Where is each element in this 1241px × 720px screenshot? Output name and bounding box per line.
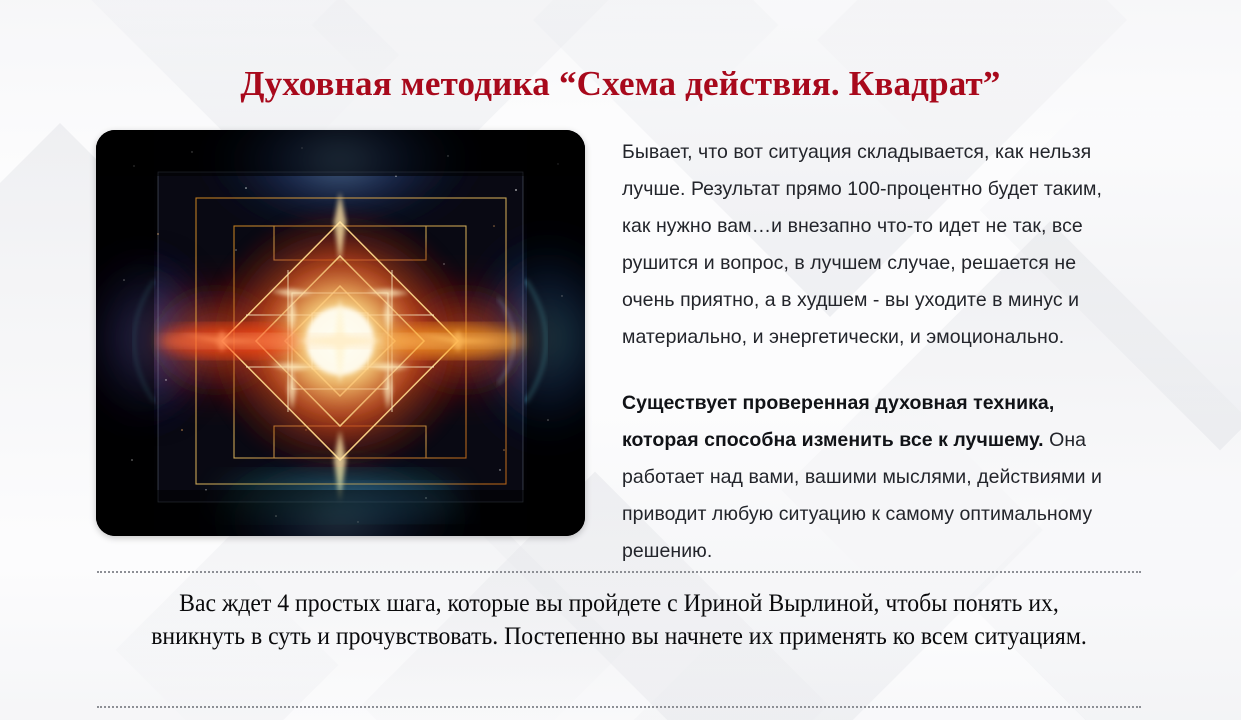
footer-callout: Вас ждет 4 простых шага, которые вы прой… bbox=[134, 586, 1105, 652]
paragraph-intro: Бывает, что вот ситуация складывается, к… bbox=[622, 134, 1134, 356]
page-title: Духовная методика “Схема действия. Квадр… bbox=[0, 64, 1241, 104]
body-copy: Бывает, что вот ситуация складывается, к… bbox=[622, 134, 1134, 570]
divider-top bbox=[97, 571, 1141, 573]
slide-root: Духовная методика “Схема действия. Квадр… bbox=[0, 0, 1241, 720]
divider-bottom bbox=[97, 706, 1141, 708]
paragraph-technique-highlight: Существует проверенная духовная техника,… bbox=[622, 392, 1054, 451]
sacred-geometry-image bbox=[96, 130, 585, 536]
sacred-geometry-artwork bbox=[96, 130, 585, 536]
paragraph-technique: Существует проверенная духовная техника,… bbox=[622, 385, 1134, 570]
